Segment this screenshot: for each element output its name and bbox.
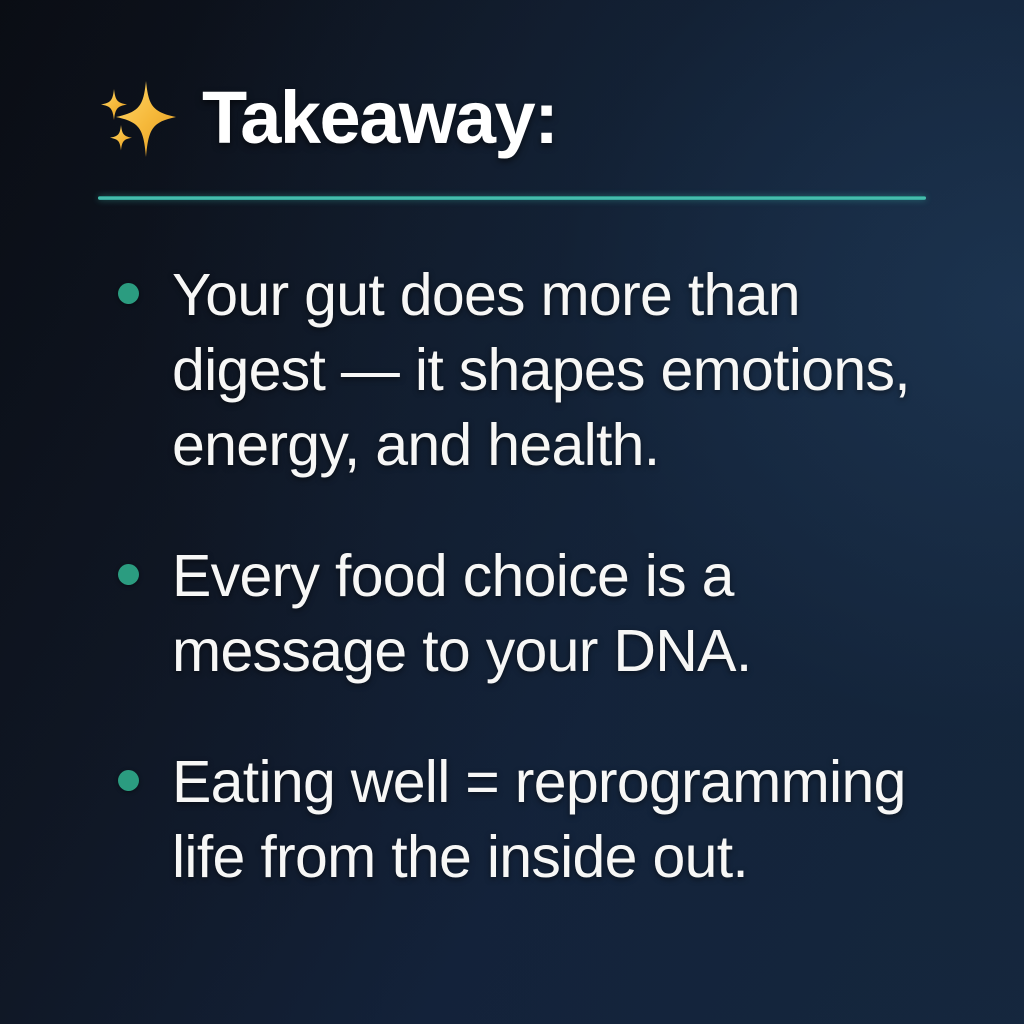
bullet-dot-icon <box>118 564 139 585</box>
sparkles-icon <box>96 73 180 165</box>
bullet-dot-icon <box>118 283 139 304</box>
list-item: Your gut does more than digest — it shap… <box>96 258 956 483</box>
slide-header: Takeaway: <box>96 70 557 166</box>
page-title: Takeaway: <box>202 81 557 155</box>
list-item-text: Your gut does more than digest — it shap… <box>172 258 942 483</box>
list-item: Eating well = reprogramming life from th… <box>96 745 956 895</box>
slide-content: Takeaway: Your gut does more than digest… <box>0 0 1024 1024</box>
list-item-text: Every food choice is a message to your D… <box>172 539 942 689</box>
list-item: Every food choice is a message to your D… <box>96 539 956 689</box>
takeaway-bullet-list: Your gut does more than digest — it shap… <box>96 258 956 894</box>
list-item-text: Eating well = reprogramming life from th… <box>172 745 942 895</box>
takeaway-slide: Takeaway: Your gut does more than digest… <box>0 0 1024 1024</box>
bullet-dot-icon <box>118 770 139 791</box>
header-divider <box>98 196 926 200</box>
